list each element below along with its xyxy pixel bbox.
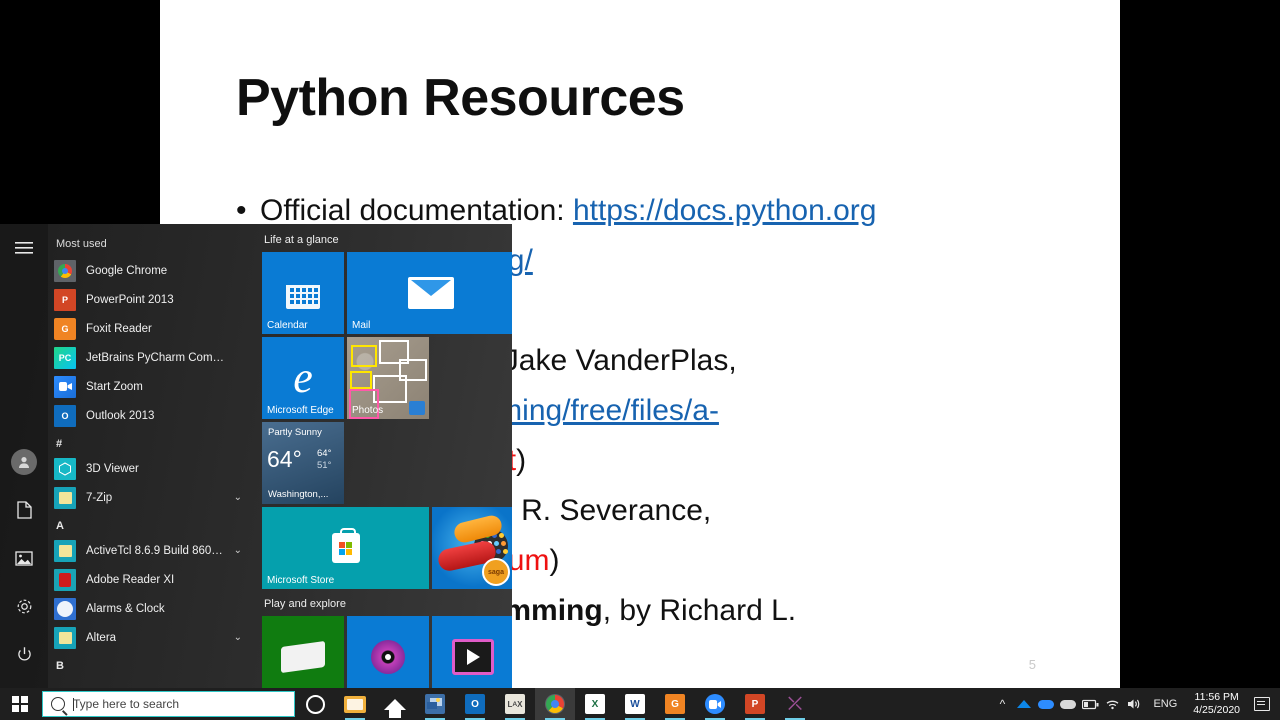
volume-icon[interactable] bbox=[1123, 688, 1145, 720]
most-used-header: Most used bbox=[48, 232, 256, 256]
adobe-reader-icon bbox=[54, 569, 76, 591]
start-menu-app-list[interactable]: Most used Google ChromePPowerPoint 2013G… bbox=[48, 224, 256, 688]
power-icon[interactable] bbox=[0, 630, 48, 678]
start-menu-app-item[interactable]: Google Chrome bbox=[48, 256, 256, 285]
calendar-icon bbox=[286, 277, 320, 309]
xbox-tile[interactable] bbox=[262, 616, 344, 688]
store-icon bbox=[332, 533, 360, 563]
chevron-down-icon[interactable]: ⌄ bbox=[234, 492, 242, 503]
chevron-down-icon[interactable]: ⌄ bbox=[234, 545, 242, 556]
folder-icon bbox=[54, 627, 76, 649]
most-used-list: Google ChromePPowerPoint 2013GFoxit Read… bbox=[48, 256, 256, 430]
onedrive-grey-icon[interactable] bbox=[1057, 688, 1079, 720]
tile-column-left: e Microsoft Edge Partly Sunny 64° 64° 51… bbox=[262, 337, 344, 504]
windows-logo-icon bbox=[12, 696, 28, 712]
tile-label: Photos bbox=[352, 405, 383, 416]
tile-row-4 bbox=[262, 616, 512, 688]
body-text: Official documentation: bbox=[260, 194, 573, 227]
start-menu-app-item[interactable]: OOutlook 2013 bbox=[48, 401, 256, 430]
body-text: ) bbox=[516, 444, 526, 477]
documents-icon[interactable] bbox=[0, 486, 48, 534]
weather-tile[interactable]: Partly Sunny 64° 64° 51° Washington,... bbox=[262, 422, 344, 504]
zoom-icon bbox=[705, 694, 725, 714]
start-menu-app-item[interactable]: Adobe Reader XI bbox=[48, 565, 256, 594]
foxit-icon: G bbox=[54, 318, 76, 340]
action-center-icon bbox=[1254, 697, 1270, 711]
search-input[interactable]: Type here to search bbox=[42, 691, 295, 717]
home-icon bbox=[384, 699, 406, 710]
tile-row-3: Microsoft Store saga bbox=[262, 507, 512, 589]
tile-label: Microsoft Edge bbox=[267, 405, 334, 416]
body-text: , by Richard L. bbox=[603, 594, 796, 627]
3d-viewer-icon bbox=[54, 458, 76, 480]
slide-title: Python Resources bbox=[236, 68, 685, 128]
app-group-letter[interactable]: # bbox=[48, 430, 256, 454]
clock[interactable]: 11:56 PM 4/25/2020 bbox=[1185, 691, 1248, 717]
avatar bbox=[11, 449, 37, 475]
wifi-icon[interactable] bbox=[1101, 688, 1123, 720]
dropbox-icon[interactable] bbox=[1013, 688, 1035, 720]
remote-desktop-button[interactable] bbox=[415, 688, 455, 720]
visual-studio-button[interactable]: ⤫ bbox=[775, 688, 815, 720]
app-label: Foxit Reader bbox=[86, 323, 152, 335]
zoom-button[interactable] bbox=[695, 688, 735, 720]
tile-label: Microsoft Store bbox=[267, 575, 334, 586]
microsoft-store-tile[interactable]: Microsoft Store bbox=[262, 507, 429, 589]
search-placeholder: Type here to search bbox=[73, 697, 179, 711]
groove-music-tile[interactable] bbox=[347, 616, 429, 688]
start-menu[interactable]: Most used Google ChromePPowerPoint 2013G… bbox=[0, 224, 512, 688]
tile-group-header-play: Play and explore bbox=[264, 598, 512, 610]
start-menu-app-item[interactable]: PPowerPoint 2013 bbox=[48, 285, 256, 314]
cortana-button[interactable] bbox=[295, 688, 335, 720]
edge-icon: e bbox=[293, 356, 313, 400]
start-button[interactable] bbox=[0, 688, 40, 720]
excel-button[interactable]: X bbox=[575, 688, 615, 720]
pycharm-icon: PC bbox=[54, 347, 76, 369]
start-menu-app-item[interactable]: ActiveTcl 8.6.9 Build 8609.2 (64-...⌄ bbox=[48, 536, 256, 565]
groove-music-icon bbox=[371, 640, 405, 674]
hamburger-icon[interactable] bbox=[0, 224, 48, 272]
app-label: ActiveTcl 8.6.9 Build 8609.2 (64-... bbox=[86, 545, 226, 557]
search-icon bbox=[51, 697, 65, 711]
candy-badge-icon: saga bbox=[482, 558, 510, 586]
word-icon: W bbox=[625, 694, 645, 714]
powerpoint-button[interactable]: P bbox=[735, 688, 775, 720]
foxit-button[interactable]: G bbox=[655, 688, 695, 720]
photos-tile[interactable]: Photos bbox=[347, 337, 429, 419]
visual-studio-icon: ⤫ bbox=[785, 694, 805, 714]
chrome-button[interactable] bbox=[535, 688, 575, 720]
powerpoint-icon: P bbox=[745, 694, 765, 714]
start-menu-app-item[interactable]: Alarms & Clock bbox=[48, 594, 256, 623]
app-label: 3D Viewer bbox=[86, 463, 139, 475]
taskbar[interactable]: Type here to search O LAX X W G bbox=[0, 688, 1280, 720]
account-icon[interactable] bbox=[0, 438, 48, 486]
desktop-screen: Python Resources •Official documentation… bbox=[0, 0, 1280, 720]
photos-badge-icon bbox=[409, 401, 425, 415]
settings-icon[interactable] bbox=[0, 582, 48, 630]
start-menu-tiles[interactable]: Life at a glance Calendar Mail e bbox=[256, 224, 512, 688]
calendar-tile[interactable]: Calendar bbox=[262, 252, 344, 334]
excel-icon: X bbox=[585, 694, 605, 714]
mail-tile[interactable]: Mail bbox=[347, 252, 512, 334]
app-label: 7-Zip bbox=[86, 492, 112, 504]
start-menu-app-item[interactable]: Start Zoom bbox=[48, 372, 256, 401]
outlook-icon: O bbox=[465, 694, 485, 714]
app-label: PowerPoint 2013 bbox=[86, 294, 174, 306]
outlook-button[interactable]: O bbox=[455, 688, 495, 720]
hyperlink[interactable]: https://docs.python.org bbox=[573, 194, 877, 227]
weather-temp: 64° bbox=[267, 446, 302, 473]
show-hidden-icons-button[interactable]: ^ bbox=[991, 688, 1013, 720]
clock-time: 11:56 PM bbox=[1193, 691, 1240, 704]
tile-label: Calendar bbox=[267, 320, 308, 331]
action-center-button[interactable] bbox=[1248, 688, 1276, 720]
start-menu-app-item[interactable]: PCJetBrains PyCharm Community Editi... bbox=[48, 343, 256, 372]
slide-number: 5 bbox=[1029, 657, 1036, 672]
app-label: Adobe Reader XI bbox=[86, 574, 174, 586]
pictures-icon[interactable] bbox=[0, 534, 48, 582]
start-menu-app-item[interactable]: 3D Viewer bbox=[48, 454, 256, 483]
tile-group-header-life: Life at a glance bbox=[264, 234, 512, 246]
start-menu-app-item[interactable]: Altera⌄ bbox=[48, 623, 256, 652]
alarms-clock-icon bbox=[54, 598, 76, 620]
app-group-letter[interactable]: B bbox=[48, 652, 256, 676]
start-menu-app-item[interactable]: 7-Zip⌄ bbox=[48, 483, 256, 512]
zoom-icon bbox=[54, 376, 76, 398]
xbox-icon bbox=[281, 641, 325, 673]
file-explorer-icon bbox=[344, 696, 366, 713]
cortana-icon bbox=[306, 695, 325, 714]
tile-label: Mail bbox=[352, 320, 370, 331]
tile-row-2: e Microsoft Edge Partly Sunny 64° 64° 51… bbox=[262, 337, 512, 504]
app-label: Alarms & Clock bbox=[86, 603, 165, 615]
app-label: Google Chrome bbox=[86, 265, 167, 277]
mail-icon bbox=[408, 277, 454, 309]
chrome-icon bbox=[54, 260, 76, 282]
file-explorer-button[interactable] bbox=[335, 688, 375, 720]
folder-icon bbox=[54, 540, 76, 562]
alphabetical-app-groups: #3D Viewer7-Zip⌄AActiveTcl 8.6.9 Build 8… bbox=[48, 430, 256, 676]
word-button[interactable]: W bbox=[615, 688, 655, 720]
app-label: Outlook 2013 bbox=[86, 410, 154, 422]
weather-condition: Partly Sunny bbox=[268, 427, 322, 438]
outlook-icon: O bbox=[54, 405, 76, 427]
language-indicator[interactable]: ENG bbox=[1145, 698, 1185, 710]
candy-crush-tile[interactable]: saga bbox=[432, 507, 512, 589]
weather-location: Washington,... bbox=[268, 489, 328, 500]
latex-button[interactable]: LAX bbox=[495, 688, 535, 720]
movies-tv-icon bbox=[452, 639, 494, 675]
latex-icon: LAX bbox=[505, 694, 525, 714]
onedrive-icon[interactable] bbox=[1035, 688, 1057, 720]
system-tray[interactable]: ^ ENG 11:56 PM 4/25/2020 bbox=[991, 688, 1280, 720]
movies-tv-tile[interactable] bbox=[432, 616, 512, 688]
app-label: Start Zoom bbox=[86, 381, 143, 393]
weather-high: 64° bbox=[317, 448, 331, 459]
foxit-icon: G bbox=[665, 694, 685, 714]
powerpoint-icon: P bbox=[54, 289, 76, 311]
start-menu-app-item[interactable]: GFoxit Reader bbox=[48, 314, 256, 343]
tile-row-1: Calendar Mail bbox=[262, 252, 512, 334]
remote-desktop-icon bbox=[425, 694, 445, 714]
app-label: JetBrains PyCharm Community Editi... bbox=[86, 352, 226, 364]
clock-date: 4/25/2020 bbox=[1193, 704, 1240, 717]
chrome-icon bbox=[545, 694, 565, 714]
body-text: ) bbox=[549, 544, 559, 577]
start-menu-rail bbox=[0, 224, 48, 688]
microsoft-edge-tile[interactable]: e Microsoft Edge bbox=[262, 337, 344, 419]
app-group-letter[interactable]: A bbox=[48, 512, 256, 536]
chevron-down-icon[interactable]: ⌄ bbox=[234, 632, 242, 643]
home-button[interactable] bbox=[375, 688, 415, 720]
battery-icon[interactable] bbox=[1079, 688, 1101, 720]
app-label: Altera bbox=[86, 632, 116, 644]
folder-icon bbox=[54, 487, 76, 509]
weather-low: 51° bbox=[317, 460, 331, 471]
